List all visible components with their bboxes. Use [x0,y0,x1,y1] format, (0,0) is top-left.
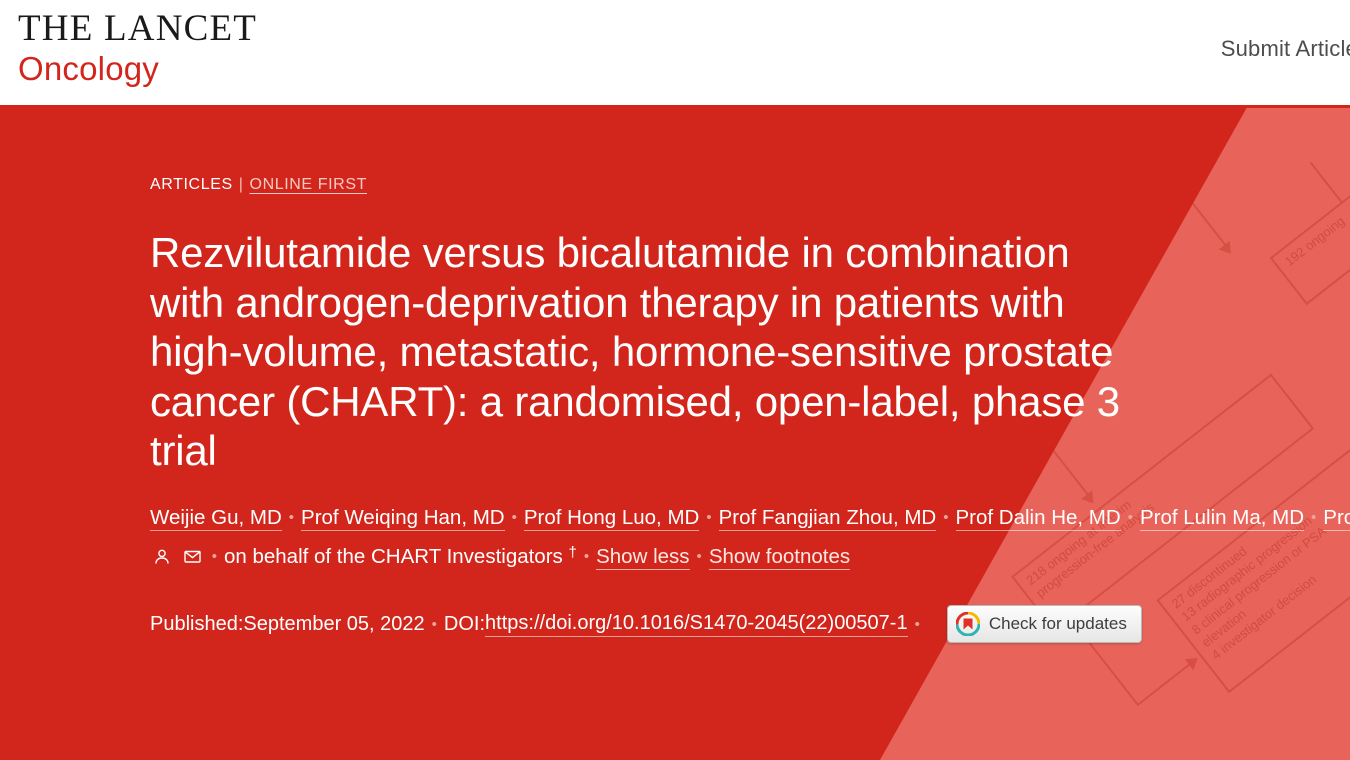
kicker-separator: | [239,176,244,193]
author-separator: • [1128,509,1133,526]
published-date: September 05, 2022 [243,613,424,636]
flowchart-connector [1136,662,1192,707]
flowchart-connector [1310,162,1344,204]
author-separator: • [584,548,589,565]
author-link[interactable]: Prof Hongqian Guo, MD [1323,506,1350,531]
submit-article-link[interactable]: Submit Article [1221,36,1350,61]
author-separator: • [212,548,217,565]
brand-title-the-lancet: THE LANCET [18,10,257,49]
crossmark-label: Check for updates [989,614,1127,634]
doi-label: DOI: [444,613,485,636]
brand-title-oncology: Oncology [18,52,257,87]
author-list: Weijie Gu, MD•Prof Weiqing Han, MD•Prof … [150,498,1130,580]
flowchart-arrowhead [1185,652,1202,670]
site-header: THE LANCET Oncology Submit Article [0,0,1350,108]
online-first-link[interactable]: ONLINE FIRST [250,176,367,193]
article-kicker: ARTICLES|ONLINE FIRST [150,176,1130,194]
flowchart-connector [1153,153,1228,249]
person-icon[interactable] [153,540,171,579]
author-separator: • [697,548,702,565]
article-type-label: ARTICLES [150,176,233,193]
group-author-label: on behalf of the CHART Investigators [224,545,569,568]
author-separator: • [706,509,711,526]
published-label: Published: [150,613,243,636]
flowchart-box: 192 ongoing [1270,135,1350,305]
crossmark-icon [956,612,980,636]
crossmark-badge[interactable]: Check for updates [947,605,1142,643]
author-separator: • [512,509,517,526]
article-title: Rezvilutamide versus bicalutamide in com… [150,228,1130,476]
author-separator: • [943,509,948,526]
meta-separator: • [432,616,437,633]
author-link[interactable]: Prof Fangjian Zhou, MD [719,506,937,531]
author-link[interactable]: Weijie Gu, MD [150,506,282,531]
footnote-marker[interactable]: † [569,544,577,561]
author-link[interactable]: Prof Weiqing Han, MD [301,506,505,531]
header-nav: Submit Article [1221,0,1350,62]
article-hero-banner: 30 discontinued 16 radiographic progress… [0,108,1350,760]
doi-link[interactable]: https://doi.org/10.1016/S1470-2045(22)00… [485,612,908,637]
author-link[interactable]: Prof Dalin He, MD [956,506,1121,531]
author-link[interactable]: Prof Lulin Ma, MD [1140,506,1304,531]
publication-meta: Published: September 05, 2022 • DOI: htt… [150,605,1130,643]
show-less-link[interactable]: Show less [596,545,689,570]
show-footnotes-link[interactable]: Show footnotes [709,545,850,570]
flowchart-box: 27 discontinued 13 radiographic progress… [1156,379,1350,694]
envelope-icon[interactable] [183,540,202,579]
meta-separator: • [915,616,920,633]
article-header-content: ARTICLES|ONLINE FIRST Rezvilutamide vers… [0,108,1130,643]
site-logo[interactable]: THE LANCET Oncology [0,0,257,86]
author-separator: • [289,509,294,526]
flowchart-arrowhead [1219,241,1237,258]
author-link[interactable]: Prof Hong Luo, MD [524,506,699,531]
author-separator: • [1311,509,1316,526]
